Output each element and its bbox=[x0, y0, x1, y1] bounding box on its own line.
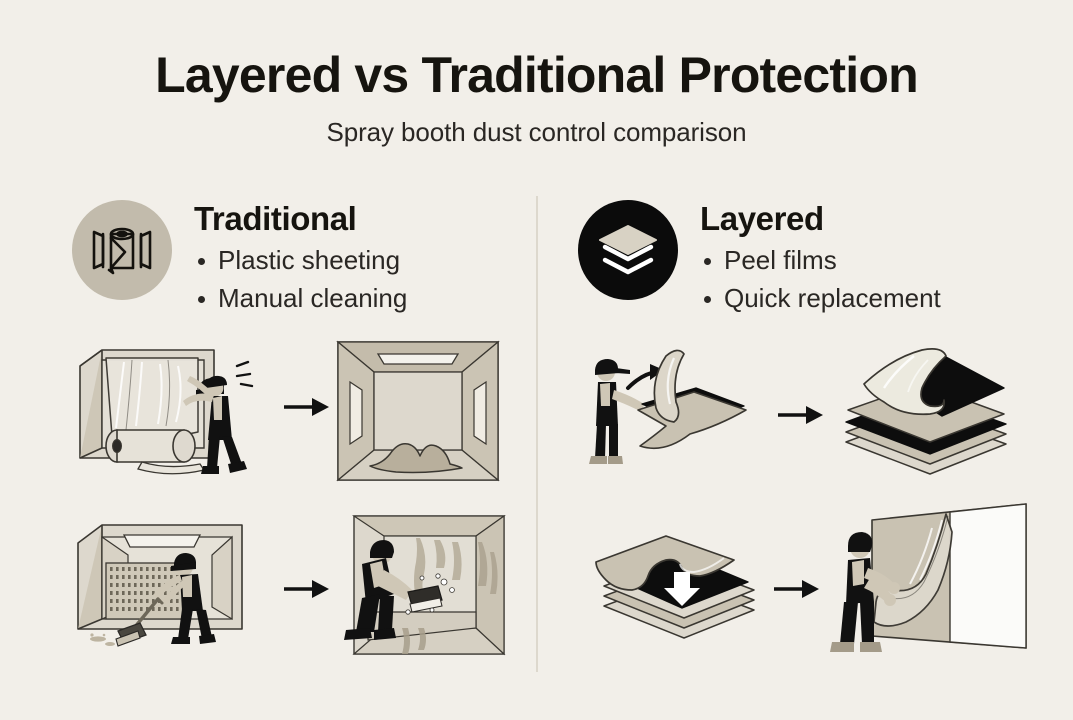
arrow-right bbox=[778, 404, 824, 426]
plastic-roll-icon bbox=[72, 200, 172, 300]
illustration-film-stack-with-down-arrow bbox=[582, 514, 782, 654]
column-header-text-traditional: Traditional Plastic sheeting Manual clea… bbox=[194, 196, 407, 317]
header: Layered vs Traditional Protection Spray … bbox=[0, 48, 1073, 148]
page-subtitle: Spray booth dust control comparison bbox=[0, 117, 1073, 148]
column-title-layered: Layered bbox=[700, 200, 941, 238]
bullet-list-layered: Peel films Quick replacement bbox=[700, 242, 941, 317]
bullet-item: Manual cleaning bbox=[194, 280, 407, 318]
bullet-list-traditional: Plastic sheeting Manual cleaning bbox=[194, 242, 407, 317]
page-title: Layered vs Traditional Protection bbox=[0, 48, 1073, 103]
column-title-traditional: Traditional bbox=[194, 200, 407, 238]
column-traditional: Traditional Plastic sheeting Manual clea… bbox=[72, 196, 552, 676]
arrow-right bbox=[774, 578, 820, 600]
bullet-item: Plastic sheeting bbox=[194, 242, 407, 280]
column-header-text-layered: Layered Peel films Quick replacement bbox=[700, 196, 941, 317]
stacked-layers-icon bbox=[578, 200, 678, 300]
illustration-worker-peeling-film-from-wall-revealing-clean-surface bbox=[820, 498, 1038, 672]
worker-figure bbox=[589, 359, 644, 464]
bullet-item: Quick replacement bbox=[700, 280, 941, 318]
illustration-worker-peeling-top-film-layer bbox=[578, 342, 778, 486]
column-header-traditional: Traditional Plastic sheeting Manual clea… bbox=[72, 196, 407, 317]
arrow-right bbox=[284, 396, 330, 418]
column-layered: Layered Peel films Quick replacement bbox=[578, 196, 1058, 676]
illustration-clean-multilayer-film-stack bbox=[826, 344, 1026, 484]
bullet-item: Peel films bbox=[700, 242, 941, 280]
illustration-booth-interior-with-dust-pile bbox=[334, 338, 502, 484]
column-header-layered: Layered Peel films Quick replacement bbox=[578, 196, 941, 317]
illustration-worker-draping-plastic-sheeting-on-booth bbox=[72, 336, 282, 486]
illustration-worker-scrubbing-stained-booth-wall bbox=[312, 508, 512, 664]
infographic-canvas: Layered vs Traditional Protection Spray … bbox=[0, 0, 1073, 720]
illustration-worker-sweeping-booth-floor bbox=[72, 511, 284, 661]
